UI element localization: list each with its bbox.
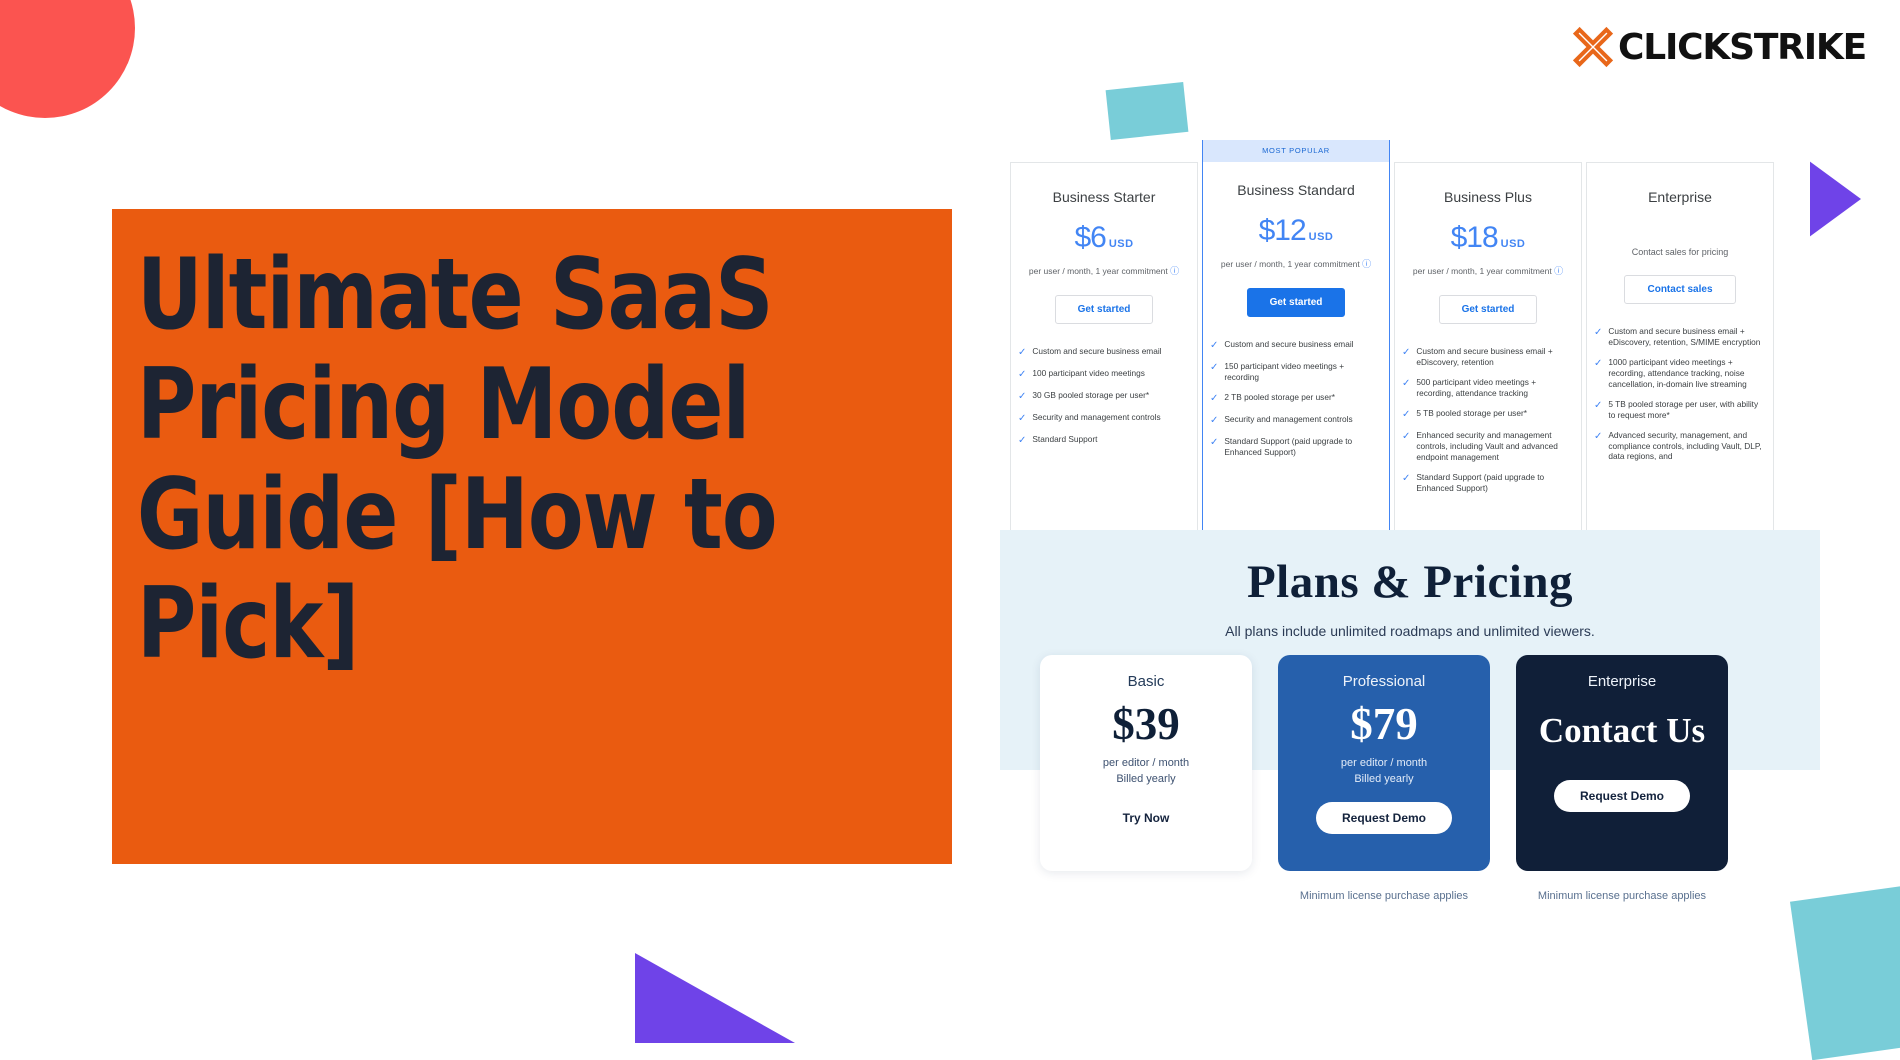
plan-note-list: -Minimum license purchase appliesMinimum… (1040, 890, 1728, 902)
workspace-cta-wrap: Get started (1011, 295, 1197, 324)
check-icon: ✓ (1594, 399, 1602, 421)
check-icon: ✓ (1210, 361, 1218, 383)
hero-title-card: Ultimate SaaS Pricing Model Guide [How t… (112, 209, 952, 864)
plan-card: EnterpriseContact UsRequest Demo (1516, 655, 1728, 871)
check-icon: ✓ (1402, 377, 1410, 399)
workspace-feature-item: ✓Standard Support (1018, 434, 1188, 447)
check-icon: ✓ (1210, 339, 1218, 352)
workspace-feature-item: ✓5 TB pooled storage per user, with abil… (1594, 399, 1764, 421)
check-icon: ✓ (1402, 472, 1410, 494)
workspace-feature-item: ✓5 TB pooled storage per user* (1402, 408, 1572, 421)
plan-card-cta-button[interactable]: Request Demo (1316, 802, 1452, 834)
workspace-cta-button[interactable]: Contact sales (1624, 275, 1735, 304)
workspace-feature-item: ✓500 participant video meetings + record… (1402, 377, 1572, 399)
decor-teal-shape-bottom (1790, 870, 1900, 1060)
workspace-plan-terms: per user / month, 1 year commitment ⓘ (1011, 264, 1197, 277)
workspace-feature-item: ✓2 TB pooled storage per user* (1210, 392, 1380, 405)
workspace-cta-wrap: Contact sales (1587, 275, 1773, 304)
workspace-feature-item: ✓Custom and secure business email + eDis… (1594, 326, 1764, 348)
plan-card-price: Contact Us (1516, 696, 1728, 766)
check-icon: ✓ (1594, 357, 1602, 390)
check-icon: ✓ (1402, 408, 1410, 421)
workspace-pricing-table: Business Starter$6USDper user / month, 1… (1010, 140, 1810, 535)
info-icon[interactable]: ⓘ (1362, 259, 1371, 269)
check-icon: ✓ (1018, 346, 1026, 359)
plan-card-meta-line: Billed yearly (1040, 772, 1252, 788)
workspace-plan-terms: per user / month, 1 year commitment ⓘ (1203, 257, 1389, 270)
workspace-cta-button[interactable]: Get started (1055, 295, 1154, 324)
plan-card: Professional$79per editor / monthBilled … (1278, 655, 1490, 871)
plan-card-note: Minimum license purchase applies (1278, 890, 1490, 902)
workspace-feature-list: ✓Custom and secure business email + eDis… (1395, 346, 1581, 493)
decor-circle-red (0, 0, 135, 118)
workspace-feature-item: ✓100 participant video meetings (1018, 368, 1188, 381)
check-icon: ✓ (1018, 368, 1026, 381)
info-icon[interactable]: ⓘ (1170, 266, 1179, 276)
plan-card-list: Basic$39per editor / monthBilled yearlyT… (1040, 655, 1728, 871)
plan-card-meta-line: per editor / month (1278, 756, 1490, 772)
workspace-feature-item: ✓1000 participant video meetings + recor… (1594, 357, 1764, 390)
workspace-feature-item: ✓Security and management controls (1210, 414, 1380, 427)
workspace-plan-column: Business Plus$18USDper user / month, 1 y… (1394, 162, 1582, 535)
workspace-feature-item: ✓Advanced security, management, and comp… (1594, 430, 1764, 463)
plan-card-meta: per editor / monthBilled yearly (1278, 756, 1490, 788)
plan-card-price: $39 (1040, 696, 1252, 752)
check-icon: ✓ (1018, 412, 1026, 425)
workspace-plan-name: Business Plus (1395, 189, 1581, 205)
x-mark-icon (1570, 24, 1616, 70)
workspace-cta-wrap: Get started (1395, 295, 1581, 324)
workspace-feature-item: ✓Enhanced security and management contro… (1402, 430, 1572, 463)
workspace-cta-button[interactable]: Get started (1247, 288, 1346, 317)
workspace-feature-item: ✓Custom and secure business email (1210, 339, 1380, 352)
plan-card-name: Enterprise (1516, 673, 1728, 690)
workspace-plan-price: $12USD (1203, 214, 1389, 248)
workspace-feature-item: ✓Custom and secure business email + eDis… (1402, 346, 1572, 368)
decor-purple-triangle-right (1801, 155, 1861, 243)
workspace-plan-column: Business Starter$6USDper user / month, 1… (1010, 162, 1198, 535)
brand-logo[interactable]: CLICKSTRIKE (1570, 24, 1866, 70)
brand-logo-text: CLICKSTRIKE (1618, 27, 1866, 68)
workspace-feature-list: ✓Custom and secure business email + eDis… (1587, 326, 1773, 462)
plan-card-meta-line: per editor / month (1040, 756, 1252, 772)
plan-card-meta-line: Billed yearly (1278, 772, 1490, 788)
plan-card-cta-button[interactable]: Try Now (1097, 802, 1196, 834)
check-icon: ✓ (1210, 392, 1218, 405)
workspace-feature-item: ✓Standard Support (paid upgrade to Enhan… (1210, 436, 1380, 458)
workspace-feature-item: ✓150 participant video meetings + record… (1210, 361, 1380, 383)
check-icon: ✓ (1018, 390, 1026, 403)
plan-card-name: Professional (1278, 673, 1490, 690)
workspace-feature-list: ✓Custom and secure business email✓100 pa… (1011, 346, 1197, 447)
plan-card-meta: per editor / monthBilled yearly (1040, 756, 1252, 788)
workspace-plan-name: Business Starter (1011, 189, 1197, 205)
plan-card-note: Minimum license purchase applies (1516, 890, 1728, 902)
workspace-cta-wrap: Get started (1203, 288, 1389, 317)
workspace-plan-terms: per user / month, 1 year commitment ⓘ (1395, 264, 1581, 277)
workspace-feature-list: ✓Custom and secure business email✓150 pa… (1203, 339, 1389, 458)
check-icon: ✓ (1018, 434, 1026, 447)
workspace-plan-name: Business Standard (1203, 182, 1389, 198)
check-icon: ✓ (1402, 346, 1410, 368)
info-icon[interactable]: ⓘ (1554, 266, 1563, 276)
plan-card: Basic$39per editor / monthBilled yearlyT… (1040, 655, 1252, 871)
workspace-plan-name: Enterprise (1587, 189, 1773, 205)
workspace-plan-price: $6USD (1011, 221, 1197, 255)
most-popular-badge: MOST POPULAR (1203, 140, 1389, 162)
check-icon: ✓ (1210, 436, 1218, 458)
check-icon: ✓ (1594, 326, 1602, 348)
workspace-cta-button[interactable]: Get started (1439, 295, 1538, 324)
page-title: Ultimate SaaS Pricing Model Guide [How t… (112, 209, 885, 680)
plans-section-title: Plans & Pricing (1000, 530, 1820, 609)
check-icon: ✓ (1210, 414, 1218, 427)
workspace-feature-item: ✓Custom and secure business email (1018, 346, 1188, 359)
workspace-plan-column: EnterpriseContact sales for pricingConta… (1586, 162, 1774, 535)
workspace-feature-item: ✓Security and management controls (1018, 412, 1188, 425)
plans-section-subtitle: All plans include unlimited roadmaps and… (1000, 623, 1820, 639)
workspace-plan-terms: Contact sales for pricing (1587, 247, 1773, 257)
workspace-plan-column: MOST POPULARBusiness Standard$12USDper u… (1202, 140, 1390, 535)
decor-purple-triangle-bottom (635, 953, 795, 1043)
check-icon: ✓ (1402, 430, 1410, 463)
workspace-feature-item: ✓Standard Support (paid upgrade to Enhan… (1402, 472, 1572, 494)
check-icon: ✓ (1594, 430, 1602, 463)
workspace-plan-price: $18USD (1395, 221, 1581, 255)
plan-card-price: $79 (1278, 696, 1490, 752)
decor-teal-rectangle-top (1106, 82, 1189, 140)
plan-card-cta-button[interactable]: Request Demo (1554, 780, 1690, 812)
workspace-feature-item: ✓30 GB pooled storage per user* (1018, 390, 1188, 403)
plan-card-name: Basic (1040, 673, 1252, 690)
